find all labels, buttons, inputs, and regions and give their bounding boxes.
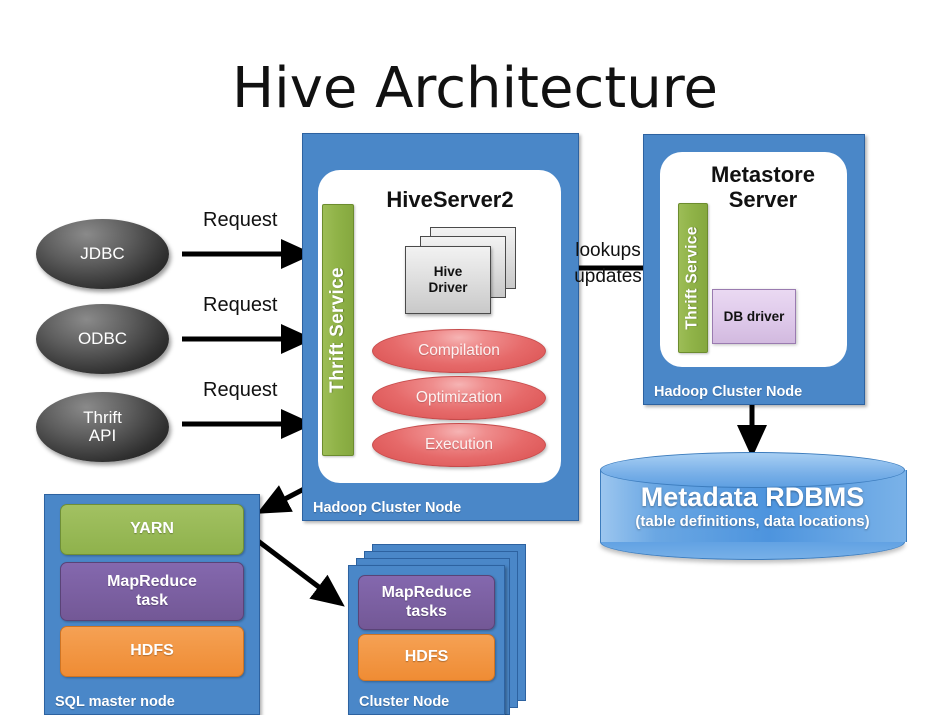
db-driver[interactable]: DB driver [712,289,796,344]
hiveserver-node-label: Hadoop Cluster Node [313,500,461,516]
stage-optimization-label: Optimization [416,389,502,407]
metastore-node-label: Hadoop Cluster Node [654,384,802,400]
thrift-service-hiveserver-label: Thrift Service [327,267,349,393]
hive-driver[interactable]: Hive Driver [405,246,491,314]
request-label-jdbc: Request [203,209,278,232]
stage-execution[interactable]: Execution [372,423,546,467]
thrift-service-metastore[interactable]: Thrift Service [678,203,708,353]
stage-optimization[interactable]: Optimization [372,376,546,420]
stage-compilation-label: Compilation [418,342,500,360]
stage-execution-label: Execution [425,436,493,454]
cluster-node-hdfs[interactable]: HDFS [358,634,495,681]
cluster-node-mapreduce-label-1: MapReduce [382,584,472,603]
metastore-link-label-line2: updates [563,264,653,290]
request-label-odbc: Request [203,294,278,317]
stage-compilation[interactable]: Compilation [372,329,546,373]
metadata-rdbms-title: Metadata RDBMS [600,482,905,512]
request-label-thrift: Request [203,379,278,402]
metastore-link-label: lookups updates [563,238,653,289]
client-odbc[interactable]: ODBC [36,304,169,374]
client-jdbc-label: JDBC [80,245,124,263]
metastore-title-line1: Metastore [678,163,848,188]
client-thrift-api[interactable]: Thrift API [36,392,169,462]
client-odbc-label: ODBC [78,330,127,348]
thrift-service-hiveserver[interactable]: Thrift Service [322,204,354,456]
thrift-service-metastore-label: Thrift Service [684,226,702,329]
metadata-rdbms-subtitle: (table definitions, data locations) [600,512,905,532]
cluster-node-hdfs-label: HDFS [405,648,449,667]
metadata-rdbms-cylinder[interactable]: Metadata RDBMS (table definitions, data … [600,452,905,560]
sql-master-node-label: SQL master node [55,694,175,710]
sql-master-yarn-label: YARN [130,520,174,539]
hiveserver-title: HiveServer2 [340,188,560,213]
metastore-link-label-line1: lookups [563,238,653,264]
cluster-node-label: Cluster Node [359,694,449,710]
client-jdbc[interactable]: JDBC [36,219,169,289]
db-driver-label: DB driver [724,309,785,324]
sql-master-hdfs-label: HDFS [130,642,174,661]
sql-master-mapreduce-task[interactable]: MapReduce task [60,562,244,621]
sql-master-yarn[interactable]: YARN [60,504,244,555]
cluster-node-mapreduce-tasks[interactable]: MapReduce tasks [358,575,495,630]
hive-driver-stack[interactable]: Hive Driver [404,227,519,322]
client-thrift-api-label-1: Thrift [83,409,122,427]
sql-master-mapreduce-label-2: task [136,592,168,611]
sql-master-hdfs[interactable]: HDFS [60,626,244,677]
diagram-canvas: Hive Architecture JDBC ODBC [0,0,950,713]
metadata-rdbms-text: Metadata RDBMS (table definitions, data … [600,482,905,532]
hive-driver-label-2: Driver [428,280,467,296]
client-thrift-api-label-2: API [89,427,116,445]
sql-master-mapreduce-label-1: MapReduce [107,573,197,592]
cluster-node-mapreduce-label-2: tasks [406,603,447,622]
page-title: Hive Architecture [0,56,950,121]
hive-driver-label-1: Hive [434,264,463,280]
